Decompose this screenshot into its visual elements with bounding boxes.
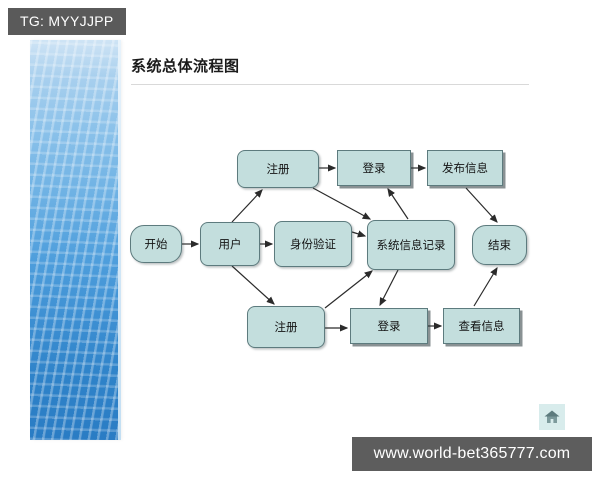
flow-node-system-record[interactable]: 系统信息记录 [367, 220, 455, 270]
edge-publish-end [466, 188, 497, 222]
home-icon[interactable] [539, 404, 565, 430]
edge-sysrecord-login-top [388, 189, 408, 219]
edge-user-reg-bottom [232, 266, 274, 304]
flow-node-user[interactable]: 用户 [200, 222, 260, 266]
edge-reg-bottom-sysrecord [325, 271, 372, 308]
edge-auth-sysrecord [352, 232, 365, 236]
flow-node-register-top[interactable]: 注册 [237, 150, 319, 188]
edge-view-info-end [474, 268, 497, 306]
flow-node-login-top[interactable]: 登录 [337, 150, 411, 186]
flow-node-publish-info[interactable]: 发布信息 [427, 150, 503, 186]
tg-watermark-badge: TG: MYYJJPP [8, 8, 126, 35]
edge-user-reg-top [232, 190, 262, 222]
edge-sysrecord-login-bot [380, 270, 398, 305]
edge-reg-top-sysrecord [313, 188, 370, 219]
flow-node-register-bottom[interactable]: 注册 [247, 306, 325, 348]
flow-node-view-info[interactable]: 查看信息 [443, 308, 520, 344]
slide-canvas: 系统总体流程图 开始 用户 身份验证 注册 登录 [0, 0, 600, 480]
flow-node-end[interactable]: 结束 [472, 225, 527, 265]
flow-node-start[interactable]: 开始 [130, 225, 182, 263]
flow-node-auth[interactable]: 身份验证 [274, 221, 352, 267]
url-watermark-badge: www.world-bet365777.com [352, 437, 592, 471]
flow-node-login-bottom[interactable]: 登录 [350, 308, 428, 344]
